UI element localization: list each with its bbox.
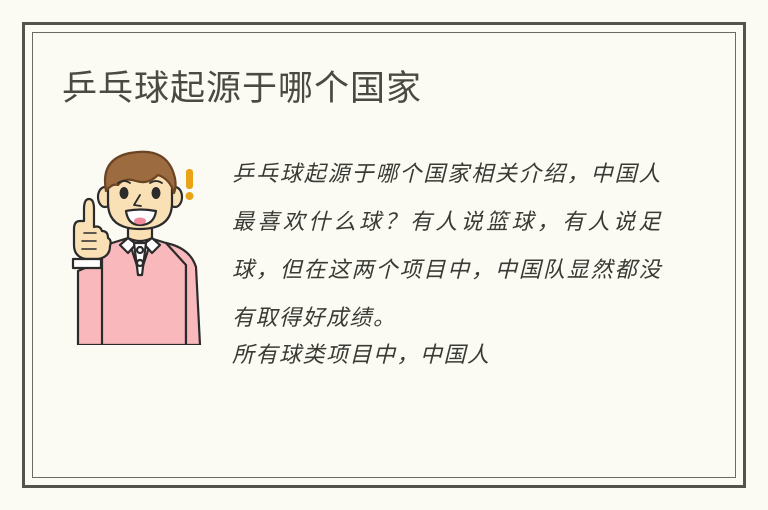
article-body: 乒乓球起源于哪个国家相关介绍，中国人最喜欢什么球？有人说篮球，有人说足球，但在这… — [232, 151, 662, 375]
sleeve-cuff — [73, 259, 101, 268]
article-paragraph-2: 所有球类项目中，中国人 — [232, 337, 662, 375]
exclamation-dot — [186, 192, 194, 200]
exclamation-icon — [186, 169, 194, 200]
page-title: 乒乓球起源于哪个国家 — [62, 66, 422, 112]
exclamation-bar — [186, 169, 193, 189]
tongue — [134, 218, 146, 225]
article-page: 乒乓球起源于哪个国家 — [0, 0, 768, 510]
shirt-button-top — [137, 247, 143, 253]
shirt-button-bottom — [137, 260, 143, 266]
eye-right — [152, 187, 161, 199]
boy-pointing-up-illustration — [50, 145, 218, 345]
eye-left — [120, 187, 129, 199]
article-content: 乒乓球起源于哪个国家相关介绍，中国人最喜欢什么球？有人说篮球，有人说足球，但在这… — [50, 145, 690, 435]
article-paragraph-1: 乒乓球起源于哪个国家相关介绍，中国人最喜欢什么球？有人说篮球，有人说足球，但在这… — [232, 151, 662, 343]
